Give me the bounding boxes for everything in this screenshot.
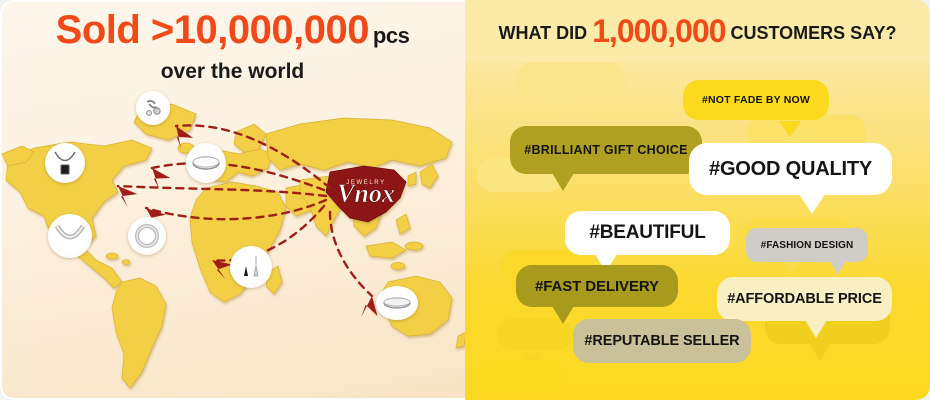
sold-count-text: Sold >10,000,000 (56, 8, 369, 52)
ring-icon (376, 286, 418, 320)
earrings-icon (136, 91, 170, 125)
bubble-label: #FAST DELIVERY (535, 278, 659, 295)
bubble-tail (779, 121, 801, 137)
bubble-label: #FASHION DESIGN (761, 240, 854, 251)
reviews-customer-count: 1,000,000 (592, 13, 725, 49)
right-panel-reviews: WHAT DID 1,000,000 CUSTOMERS SAY? #BRILL… (465, 0, 930, 400)
bubble-tail (830, 261, 846, 275)
bubble-not-fade-by-now[interactable]: #NOT FADE BY NOW (683, 80, 829, 120)
world-map: Vnox JEWELRY (0, 96, 465, 396)
ghost-bubble-tail (551, 102, 573, 119)
bracelet-icon (186, 143, 226, 183)
ghost-bubble-tail (809, 343, 831, 361)
page-title: Sold >10,000,000 pcs (0, 8, 465, 53)
bubble-tail (799, 194, 825, 214)
bubble-label: #NOT FADE BY NOW (702, 94, 810, 106)
bubble-brilliant-gift-choice[interactable]: #BRILLIANT GIFT CHOICE (510, 126, 702, 174)
bubble-label: #AFFORDABLE PRICE (727, 291, 882, 307)
reviews-header-pre: WHAT DID (498, 23, 587, 43)
badge-ring (376, 286, 418, 320)
bubble-good-quality[interactable]: #GOOD QUALITY (689, 143, 892, 195)
bubble-label: #BRILLIANT GIFT CHOICE (524, 143, 688, 157)
cufflinks-icon (230, 246, 272, 288)
brand-sub-text: JEWELRY (346, 180, 385, 186)
bubble-tail (805, 320, 827, 338)
badge-chain-necklace (48, 214, 92, 258)
reviews-header: WHAT DID 1,000,000 CUSTOMERS SAY? (465, 0, 930, 62)
bubble-label: #GOOD QUALITY (709, 158, 872, 181)
bubble-label: #REPUTABLE SELLER (584, 333, 739, 349)
chain-necklace-icon (48, 214, 92, 258)
bubble-fashion-design[interactable]: #FASHION DESIGN (746, 228, 868, 262)
badge-pendant-necklace (45, 143, 85, 183)
page-subtitle: over the world (0, 60, 465, 84)
ghost-bubble-8 (477, 360, 567, 394)
badge-bangle (128, 217, 166, 255)
bubble-beautiful[interactable]: #BEAUTIFUL (565, 211, 730, 255)
bangle-icon (128, 217, 166, 255)
pcs-label: pcs (373, 23, 409, 48)
left-panel-world-map: Sold >10,000,000 pcs over the world (0, 0, 465, 400)
badge-cufflinks (230, 246, 272, 288)
bubble-reputable-seller[interactable]: #REPUTABLE SELLER (573, 319, 751, 363)
badge-bracelet (186, 143, 226, 183)
pendant-necklace-icon (45, 143, 85, 183)
bubble-affordable-price[interactable]: #AFFORDABLE PRICE (717, 277, 892, 321)
reviews-header-post: CUSTOMERS SAY? (731, 23, 897, 43)
bubble-tail (552, 306, 574, 324)
bubble-fast-delivery[interactable]: #FAST DELIVERY (516, 265, 678, 307)
ghost-bubble-1 (517, 62, 625, 102)
bubble-tail (552, 173, 574, 191)
promo-banner: Sold >10,000,000 pcs over the world (0, 0, 930, 400)
brand-logo: Vnox JEWELRY (337, 179, 395, 208)
bubble-label: #BEAUTIFUL (589, 222, 705, 244)
badge-earrings (136, 91, 170, 125)
